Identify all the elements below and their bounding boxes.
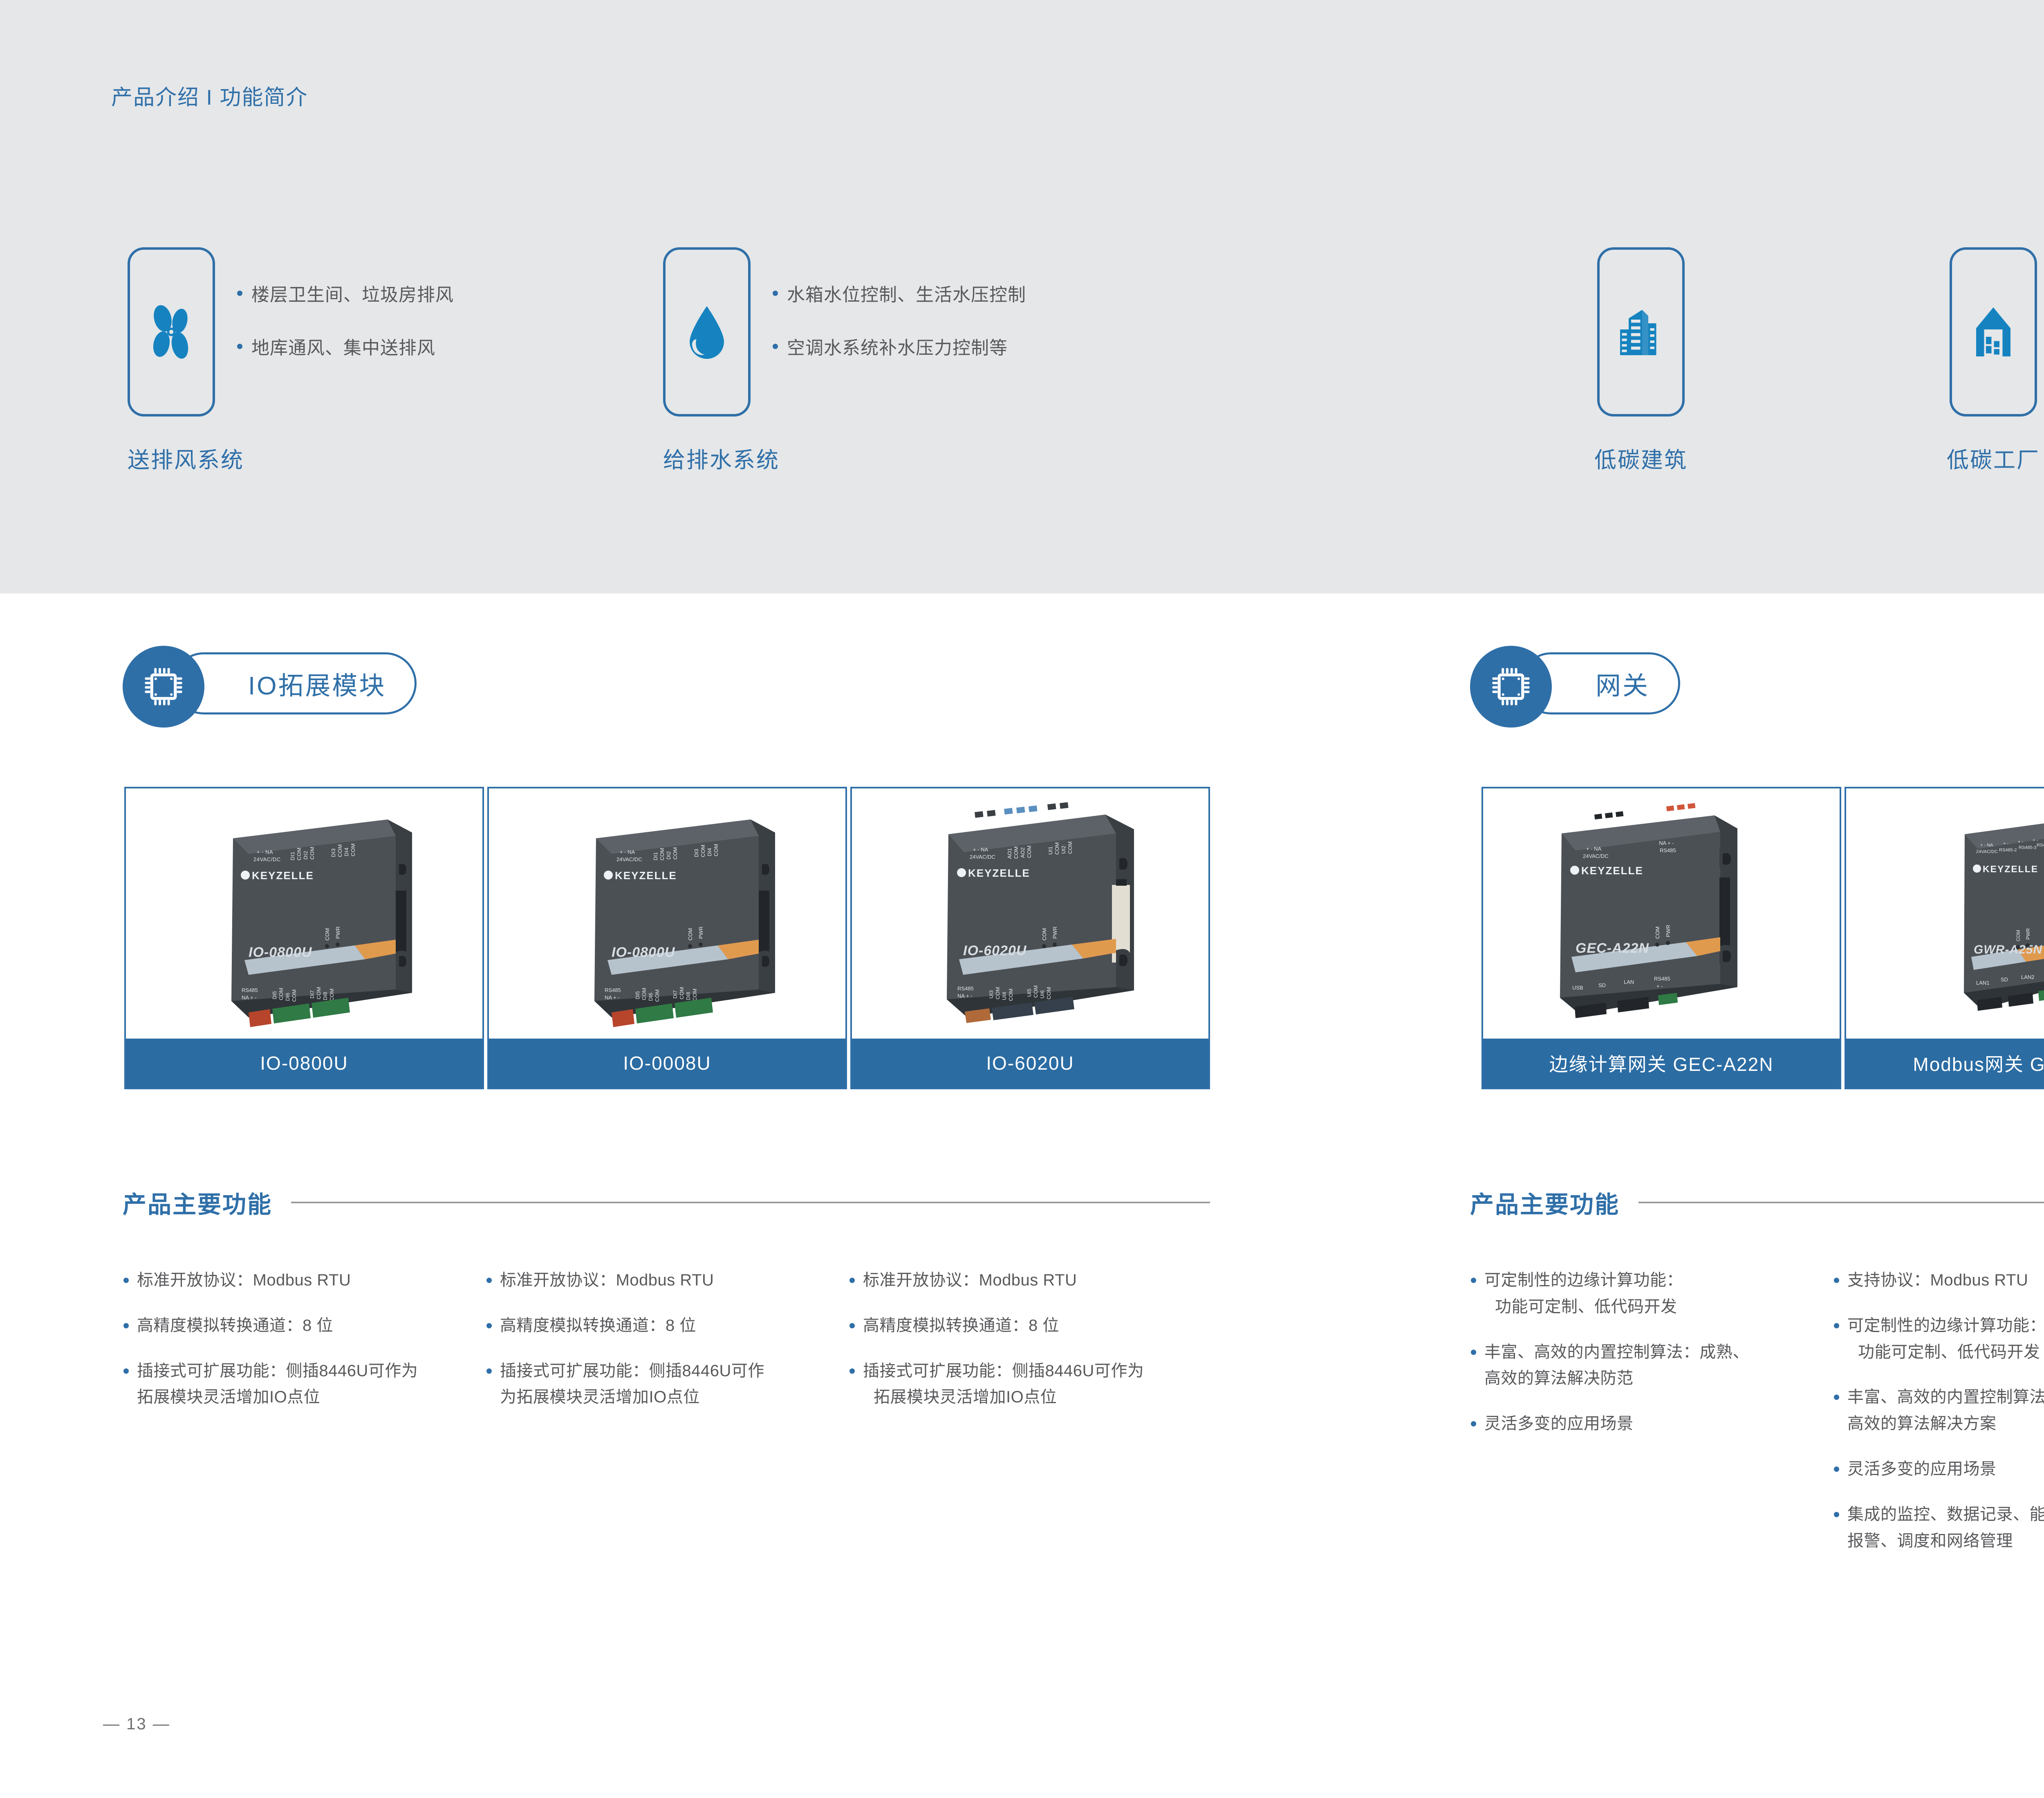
svg-text:24VAC/DC: 24VAC/DC	[1583, 853, 1609, 859]
product-image: IO-0800U + - NA 24VAC/DC DI1 COM DI2 COM…	[126, 788, 482, 1039]
product-caption: IO-0008U	[489, 1039, 845, 1088]
bullet-dot-icon	[486, 1278, 492, 1283]
svg-text:COM: COM	[291, 990, 297, 1002]
fan-icon-box	[128, 247, 215, 416]
feature-item: 支持协议：Modbus RTU	[1834, 1267, 2044, 1294]
feature-text: 插接式可扩展功能：侧插8446U可作为 拓展模块灵活增加IO点位	[863, 1358, 1144, 1411]
bullet-text: 水箱水位控制、生活水压控制	[787, 280, 1026, 306]
svg-text:PWR: PWR	[335, 927, 341, 939]
bullet-text: 地库通风、集中送排风	[251, 333, 435, 359]
svg-text:IO-0800U: IO-0800U	[249, 945, 312, 960]
product-card[interactable]: GWR-A25N + - NA + - + - + - + - 24VAC/DC…	[1845, 787, 2044, 1089]
svg-text:+ -: + -	[1656, 983, 1663, 989]
bullet-text: 楼层卫生间、垃圾房排风	[251, 280, 454, 306]
svg-text:RS485-4: RS485-4	[2037, 843, 2044, 848]
bullet-dot-icon	[773, 291, 778, 296]
svg-text:PWR: PWR	[1052, 927, 1058, 939]
feature-item: 高精度模拟转换通道：8 位	[486, 1312, 846, 1339]
scene-block-factory: 低碳工厂	[1947, 247, 2040, 474]
svg-text:SD: SD	[2001, 976, 2008, 983]
bullet-dot-icon	[1471, 1350, 1476, 1355]
svg-text:DI6: DI6	[648, 993, 654, 1001]
svg-text:DI1: DI1	[289, 851, 296, 860]
svg-text:COM: COM	[1654, 927, 1661, 939]
chip-icon	[1470, 646, 1552, 728]
svg-text:24VAC/DC: 24VAC/DC	[253, 856, 281, 862]
feature-text: 标准开放协议：Modbus RTU	[500, 1267, 714, 1294]
feature-item: 高精度模拟转换通道：8 位	[849, 1312, 1217, 1339]
svg-text:COM: COM	[324, 928, 330, 940]
svg-text:KEYZELLE: KEYZELLE	[252, 869, 314, 882]
feature-item: 集成的监控、数据记录、能耗计量、 报警、调度和网络管理	[1834, 1501, 2044, 1554]
feature-text: 支持协议：Modbus RTU	[1847, 1267, 2028, 1294]
svg-text:UI1: UI1	[1047, 846, 1053, 855]
product-card[interactable]: GEC-A22N + - NA 24VAC/DC NA + - RS485 CO…	[1481, 787, 1841, 1089]
bullet-dot-icon	[773, 344, 778, 349]
scene-caption-factory: 低碳工厂	[1947, 442, 2040, 474]
bullet-dot-icon	[849, 1278, 855, 1283]
feature-text: 可定制性的边缘计算功能： 功能可定制、低代码开发	[1484, 1267, 1683, 1320]
bullet-dot-icon	[237, 344, 242, 349]
svg-text:24VAC/DC: 24VAC/DC	[1976, 849, 1998, 854]
svg-text:DI6: DI6	[285, 993, 291, 1001]
application-caption-ventilation: 送排风系统	[128, 442, 244, 474]
bullet-dot-icon	[123, 1278, 129, 1283]
feature-text: 可定制性的边缘计算功能： 功能可定制、低代码开发	[1847, 1312, 2044, 1366]
bullet-item: 楼层卫生间、垃圾房排风	[237, 280, 454, 306]
svg-text:DI1: DI1	[652, 852, 659, 860]
svg-text:KEYZELLE: KEYZELLE	[1983, 864, 2038, 874]
fan-icon	[141, 301, 202, 363]
svg-text:COM: COM	[641, 988, 647, 1000]
svg-text:24VAC/DC: 24VAC/DC	[616, 856, 642, 862]
bullet-dot-icon	[849, 1368, 855, 1374]
svg-text:PWR: PWR	[698, 927, 704, 939]
feature-text: 标准开放协议：Modbus RTU	[137, 1267, 351, 1294]
product-card[interactable]: IO-6020U + - NA 24VAC/DC AO1 COM AO2 COM…	[850, 787, 1210, 1089]
svg-text:COM: COM	[1033, 985, 1039, 998]
svg-text:AO2: AO2	[1020, 847, 1026, 858]
svg-text:GEC-A22N: GEC-A22N	[1576, 940, 1649, 956]
section-badge-pill: IO拓展模块	[173, 652, 417, 714]
svg-text:COM: COM	[296, 847, 302, 860]
svg-text:NA + -: NA + -	[605, 994, 620, 1001]
feature-text: 丰富、高效的内置控制算法：成熟、 高效的算法解决防范	[1484, 1339, 1749, 1392]
application-caption-water: 给排水系统	[663, 442, 780, 474]
svg-text:DI3: DI3	[693, 849, 699, 857]
feature-item: 插接式可扩展功能：侧插8446U可作为 拓展模块灵活增加IO点位	[849, 1358, 1217, 1411]
svg-text:COM: COM	[278, 988, 284, 1000]
svg-text:NA + -: NA + -	[1659, 840, 1674, 846]
feature-text: 高精度模拟转换通道：8 位	[863, 1312, 1059, 1339]
bullet-dot-icon	[1834, 1323, 1839, 1328]
feature-item: 高精度模拟转换通道：8 位	[123, 1312, 483, 1339]
svg-text:COM: COM	[1026, 846, 1032, 858]
svg-text:DI7: DI7	[309, 990, 315, 999]
feature-item: 灵活多变的应用场景	[1834, 1456, 2044, 1482]
brochure-spread: 产品介绍 I 功能简介 产品介绍 I 功能简介	[0, 0, 2044, 1798]
svg-text:+ -: + -	[2003, 841, 2008, 846]
product-caption: 边缘计算网关 GEC-A22N	[1483, 1039, 1840, 1088]
svg-text:RS485-3: RS485-3	[2019, 845, 2036, 850]
application-block-water: 给排水系统 水箱水位控制、生活水压控制 空调水系统补水压力控制等	[663, 247, 780, 474]
svg-text:GWR-A25N: GWR-A25N	[1974, 943, 2042, 956]
svg-text:DI5: DI5	[271, 991, 278, 999]
svg-text:RS485-2: RS485-2	[1999, 848, 2017, 853]
features-column: 标准开放协议：Modbus RTU 高精度模拟转换通道：8 位 插接式可扩展功能…	[486, 1267, 846, 1429]
svg-text:RS485: RS485	[1654, 976, 1670, 982]
svg-text:NA + -: NA + -	[242, 994, 257, 1001]
svg-text:DI4: DI4	[706, 848, 713, 856]
svg-text:SD: SD	[1598, 982, 1606, 988]
svg-text:DI2: DI2	[303, 851, 309, 860]
product-image: GWR-A25N + - NA + - + - + - + - 24VAC/DC…	[1846, 788, 2044, 1039]
features-title: 产品主要功能	[123, 1185, 272, 1220]
svg-text:+ - NA: + - NA	[1980, 843, 1993, 848]
svg-text:COM: COM	[713, 844, 719, 856]
svg-text:KEYZELLE: KEYZELLE	[615, 869, 677, 882]
feature-text: 灵活多变的应用场景	[1484, 1411, 1634, 1437]
feature-item: 插接式可扩展功能：侧插8446U可作为 拓展模块灵活增加IO点位	[123, 1358, 483, 1411]
section-badge-label: IO拓展模块	[248, 665, 386, 702]
bullet-dot-icon	[1834, 1278, 1839, 1283]
svg-text:COM: COM	[1054, 842, 1060, 855]
features-column: 标准开放协议：Modbus RTU 高精度模拟转换通道：8 位 插接式可扩展功能…	[849, 1267, 1217, 1429]
svg-text:COM: COM	[350, 843, 356, 856]
factory-icon	[1963, 301, 2024, 363]
bullet-item: 空调水系统补水压力控制等	[773, 333, 1026, 359]
svg-text:AO1: AO1	[1006, 848, 1013, 859]
application-block-ventilation: 送排风系统 楼层卫生间、垃圾房排风 地库通风、集中送排风	[128, 247, 244, 474]
svg-text:+ - NA: + - NA	[257, 849, 273, 855]
bullet-dot-icon	[1471, 1421, 1476, 1426]
bullet-dot-icon	[123, 1368, 129, 1374]
bullet-dot-icon	[486, 1323, 492, 1328]
feature-text: 插接式可扩展功能：侧插8446U可作 为拓展模块灵活增加IO点位	[500, 1358, 764, 1411]
bullet-dot-icon	[849, 1323, 855, 1328]
svg-text:DI5: DI5	[634, 991, 641, 999]
svg-text:DI4: DI4	[343, 847, 350, 856]
svg-text:IO-6020U: IO-6020U	[963, 943, 1027, 958]
svg-text:LAN: LAN	[1624, 979, 1634, 985]
bullet-dot-icon	[1834, 1467, 1839, 1472]
features-column: 可定制性的边缘计算功能： 功能可定制、低代码开发 丰富、高效的内置控制算法：成熟…	[1471, 1267, 1822, 1456]
svg-text:+ -: + -	[2033, 838, 2038, 843]
svg-text:COM: COM	[995, 987, 1001, 999]
feature-text: 高精度模拟转换通道：8 位	[137, 1312, 333, 1339]
svg-text:+ - NA: + - NA	[973, 846, 988, 853]
svg-text:DI7: DI7	[672, 990, 678, 999]
svg-text:COM: COM	[1046, 987, 1052, 999]
bullet-dot-icon	[1471, 1278, 1476, 1283]
svg-text:COM: COM	[329, 989, 335, 1001]
svg-text:PWR: PWR	[1665, 925, 1671, 937]
product-image: GEC-A22N + - NA 24VAC/DC NA + - RS485 CO…	[1483, 788, 1840, 1039]
feature-item: 可定制性的边缘计算功能： 功能可定制、低代码开发	[1471, 1267, 1822, 1320]
svg-text:UI3: UI3	[988, 990, 994, 999]
feature-text: 丰富、高效的内置控制算法：成熟、 高效的算法解决方案	[1847, 1384, 2044, 1437]
feature-text: 灵活多变的应用场景	[1847, 1456, 1997, 1482]
feature-text: 插接式可扩展功能：侧插8446U可作为 拓展模块灵活增加IO点位	[137, 1358, 418, 1411]
svg-text:UI2: UI2	[1060, 846, 1067, 854]
svg-text:+ -: + -	[2018, 840, 2023, 844]
svg-text:COM: COM	[2015, 930, 2021, 941]
feature-item: 丰富、高效的内置控制算法：成熟、 高效的算法解决方案	[1834, 1384, 2044, 1437]
svg-text:DI8: DI8	[322, 992, 328, 1000]
product-card[interactable]: IO-0800U + - NA 24VAC/DC DI1 COM DI2 COM…	[124, 787, 484, 1089]
svg-text:KEYZELLE: KEYZELLE	[968, 867, 1030, 879]
feature-item: 标准开放协议：Modbus RTU	[849, 1267, 1217, 1294]
bullet-dot-icon	[237, 291, 242, 296]
svg-text:PWR: PWR	[2025, 928, 2031, 940]
product-caption: Modbus网关 GWR-A25N	[1846, 1039, 2044, 1088]
feature-text: 集成的监控、数据记录、能耗计量、 报警、调度和网络管理	[1847, 1501, 2044, 1554]
scene-caption-building: 低碳建筑	[1594, 442, 1688, 474]
svg-text:+ - NA: + - NA	[620, 849, 635, 855]
svg-text:COM: COM	[337, 844, 343, 857]
feature-item: 可定制性的边缘计算功能： 功能可定制、低代码开发	[1834, 1312, 2044, 1366]
bullet-dot-icon	[1834, 1395, 1839, 1400]
svg-text:KEYZELLE: KEYZELLE	[1581, 864, 1643, 877]
heading-rule	[1638, 1202, 2044, 1203]
feature-item: 灵活多变的应用场景	[1471, 1411, 1822, 1437]
section-badge-label: 网关	[1596, 665, 1650, 702]
svg-text:RS485: RS485	[605, 987, 621, 993]
svg-text:RS485: RS485	[1660, 847, 1676, 853]
svg-text:COM: COM	[679, 987, 685, 999]
feature-item: 标准开放协议：Modbus RTU	[123, 1267, 483, 1294]
application-hero: 送排风系统 楼层卫生间、垃圾房排风 地库通风、集中送排风	[0, 229, 2044, 515]
svg-text:24VAC/DC: 24VAC/DC	[970, 854, 995, 860]
svg-text:RS485: RS485	[957, 985, 974, 992]
features-title: 产品主要功能	[1470, 1185, 1620, 1220]
application-bullets-ventilation: 楼层卫生间、垃圾房排风 地库通风、集中送排风	[237, 280, 454, 359]
svg-text:COM: COM	[654, 990, 660, 1002]
feature-text: 高精度模拟转换通道：8 位	[500, 1312, 696, 1339]
svg-text:LAN2: LAN2	[2021, 974, 2035, 980]
feature-item: 插接式可扩展功能：侧插8446U可作 为拓展模块灵活增加IO点位	[486, 1358, 846, 1411]
chip-icon	[123, 646, 204, 728]
svg-text:COM: COM	[1008, 989, 1014, 1001]
svg-text:UI6: UI6	[1039, 990, 1045, 999]
svg-text:+ - NA: + - NA	[1586, 846, 1602, 852]
application-bullets-water: 水箱水位控制、生活水压控制 空调水系统补水压力控制等	[773, 280, 1026, 359]
product-image: IO-0800U + - NA 24VAC/DC DI1 COM DI2 COM…	[489, 788, 845, 1039]
feature-item: 丰富、高效的内置控制算法：成熟、 高效的算法解决防范	[1471, 1339, 1822, 1392]
svg-text:USB: USB	[1572, 985, 1583, 991]
product-caption: IO-6020U	[852, 1039, 1208, 1088]
svg-text:DI8: DI8	[685, 992, 691, 1000]
svg-text:COM: COM	[659, 848, 665, 860]
running-header-left: 产品介绍 I 功能简介	[111, 80, 308, 111]
svg-text:NA + -: NA + -	[957, 993, 973, 999]
svg-text:DI2: DI2	[666, 851, 672, 860]
product-image: IO-6020U + - NA 24VAC/DC AO1 COM AO2 COM…	[852, 788, 1208, 1039]
svg-text:COM: COM	[672, 847, 678, 860]
office-building-icon	[1610, 301, 1672, 363]
bullet-text: 空调水系统补水压力控制等	[787, 333, 1008, 359]
product-caption: IO-0800U	[126, 1039, 482, 1088]
water-drop-icon-box	[663, 247, 751, 416]
features-column: 支持协议：Modbus RTU 可定制性的边缘计算功能： 功能可定制、低代码开发…	[1834, 1267, 2044, 1573]
product-card[interactable]: IO-0800U + - NA 24VAC/DC DI1 COM DI2 COM…	[487, 787, 847, 1089]
bullet-dot-icon	[486, 1368, 492, 1374]
svg-text:RS485: RS485	[242, 987, 258, 993]
heading-rule	[291, 1202, 1210, 1203]
page-number-left: — 13 —	[103, 1715, 170, 1733]
svg-text:COM: COM	[700, 845, 706, 857]
svg-text:DI3: DI3	[330, 848, 336, 857]
svg-text:LAN1: LAN1	[1976, 980, 1990, 986]
svg-text:COM: COM	[1067, 842, 1073, 854]
feature-text: 标准开放协议：Modbus RTU	[863, 1267, 1077, 1294]
svg-text:IO-0800U: IO-0800U	[612, 945, 675, 960]
svg-text:COM: COM	[1013, 846, 1019, 859]
water-drop-icon	[676, 301, 737, 363]
svg-text:UI5: UI5	[1026, 989, 1032, 997]
office-building-icon-box	[1597, 247, 1685, 416]
feature-item: 标准开放协议：Modbus RTU	[486, 1267, 846, 1294]
bullet-item: 水箱水位控制、生活水压控制	[773, 280, 1026, 306]
features-heading-gateway: 产品主要功能	[1470, 1185, 2044, 1220]
scene-block-building: 低碳建筑	[1594, 247, 1688, 474]
svg-text:COM: COM	[1041, 928, 1047, 940]
svg-text:COM: COM	[316, 987, 322, 999]
features-heading-io: 产品主要功能	[123, 1185, 1210, 1220]
svg-text:UI4: UI4	[1001, 992, 1007, 1000]
bullet-dot-icon	[123, 1323, 129, 1328]
features-column: 标准开放协议：Modbus RTU 高精度模拟转换通道：8 位 插接式可扩展功能…	[123, 1267, 483, 1429]
svg-text:COM: COM	[687, 928, 693, 940]
bullet-dot-icon	[1834, 1512, 1839, 1517]
svg-text:COM: COM	[309, 846, 315, 860]
bullet-item: 地库通风、集中送排风	[237, 333, 454, 359]
svg-text:COM: COM	[692, 989, 698, 1001]
factory-icon-box	[1950, 247, 2037, 416]
